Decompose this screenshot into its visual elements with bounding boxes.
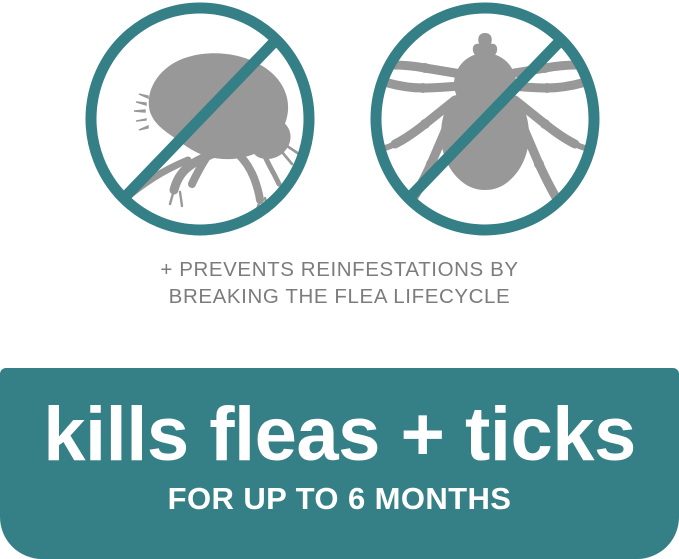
caption-line-1: + PREVENTS REINFESTATIONS BY [0,256,679,283]
product-claim-graphic: + PREVENTS REINFESTATIONS BY BREAKING TH… [0,0,679,559]
claim-banner: kills fleas + ticks FOR UP TO 6 MONTHS [0,368,679,559]
no-flea-icon [84,2,316,236]
pest-icon-row [0,0,679,240]
banner-headline: kills fleas + ticks [0,392,679,478]
no-tick-icon [369,2,601,236]
flea-silhouette [112,53,299,216]
banner-subline: FOR UP TO 6 MONTHS [0,480,679,518]
caption-line-2: BREAKING THE FLEA LIFECYCLE [0,283,679,310]
prevention-caption: + PREVENTS REINFESTATIONS BY BREAKING TH… [0,256,679,310]
